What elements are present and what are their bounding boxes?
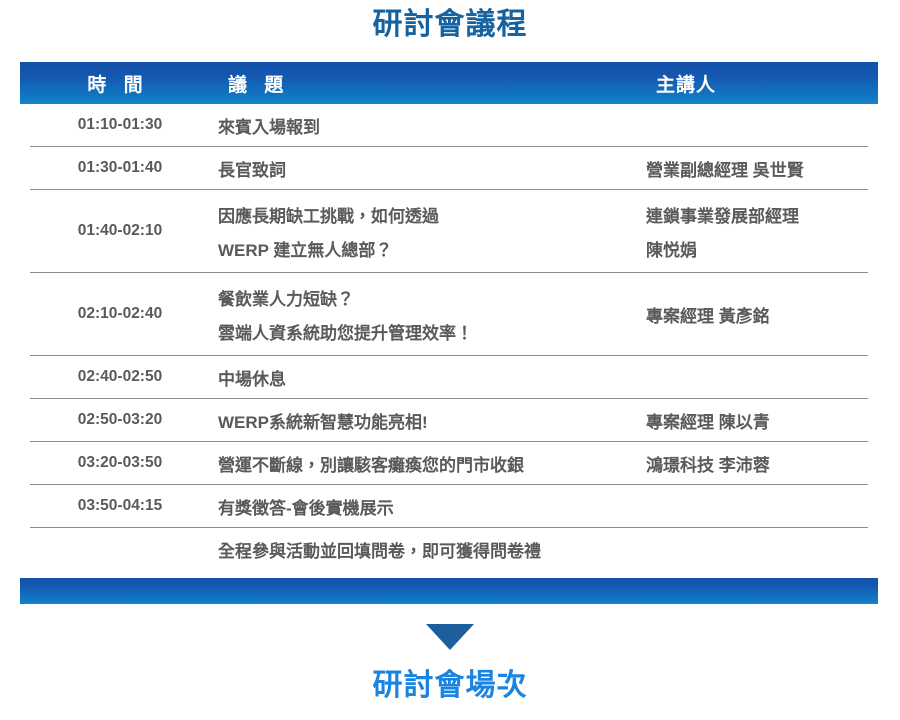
- cell-topic-line1: 營運不斷線，別讓駭客癱瘓您的門市收銀: [218, 451, 638, 476]
- cell-time: 03:50-04:15: [30, 497, 210, 515]
- table-row: 02:40-02:50中場休息: [30, 356, 868, 399]
- agenda-table: 時 間 議 題 主講人 01:10-01:30來賓入場報到01:30-01:40…: [20, 62, 878, 571]
- cell-speaker: 專案經理 黃彥銘: [638, 302, 868, 327]
- cell-speaker: 營業副總經理 吳世賢: [638, 156, 868, 181]
- table-header-row: 時 間 議 題 主講人: [20, 62, 878, 104]
- cell-topic: 全程參與活動並回填問卷，即可獲得問卷禮: [210, 537, 638, 562]
- arrow-container: [0, 624, 900, 650]
- cell-speaker: 連鎖事業發展部經理陳悦娟: [638, 202, 868, 261]
- table-row: 01:40-02:10因應長期缺工挑戰，如何透過WERP 建立無人總部？連鎖事業…: [30, 190, 868, 273]
- cell-topic: 因應長期缺工挑戰，如何透過WERP 建立無人總部？: [210, 202, 638, 261]
- cell-speaker-line2: 陳悦娟: [646, 236, 868, 261]
- cell-topic-line1: 全程參與活動並回填問卷，即可獲得問卷禮: [218, 537, 638, 562]
- cell-speaker-line1: 鴻璟科技 李沛蓉: [646, 451, 868, 476]
- cell-topic-line1: 餐飲業人力短缺？: [218, 285, 638, 310]
- table-row: 全程參與活動並回填問卷，即可獲得問卷禮: [30, 528, 868, 571]
- cell-speaker-line1: 連鎖事業發展部經理: [646, 202, 868, 227]
- cell-speaker-line1: 專案經理 陳以青: [646, 408, 868, 433]
- column-header-topic: 議 題: [210, 70, 638, 97]
- cell-speaker-line1: 營業副總經理 吳世賢: [646, 156, 868, 181]
- cell-topic-line1: WERP系統新智慧功能亮相!: [218, 408, 638, 433]
- table-body: 01:10-01:30來賓入場報到01:30-01:40長官致詞營業副總經理 吳…: [20, 104, 878, 571]
- cell-time: 01:30-01:40: [30, 159, 210, 177]
- cell-speaker: 專案經理 陳以青: [638, 408, 868, 433]
- table-row: 02:10-02:40餐飲業人力短缺？雲端人資系統助您提升管理效率！專案經理 黃…: [30, 273, 868, 356]
- cell-topic-line1: 有獎徵答-會後實機展示: [218, 494, 638, 519]
- cell-time: 02:10-02:40: [30, 305, 210, 323]
- column-header-time: 時 間: [20, 70, 210, 97]
- cell-topic: 營運不斷線，別讓駭客癱瘓您的門市收銀: [210, 451, 638, 476]
- cell-topic-line2: WERP 建立無人總部？: [218, 236, 638, 261]
- cell-topic: 有獎徵答-會後實機展示: [210, 494, 638, 519]
- table-row: 02:50-03:20WERP系統新智慧功能亮相!專案經理 陳以青: [30, 399, 868, 442]
- table-row: 03:20-03:50營運不斷線，別讓駭客癱瘓您的門市收銀鴻璟科技 李沛蓉: [30, 442, 868, 485]
- cell-topic-line1: 來賓入場報到: [218, 113, 638, 138]
- cell-topic: 餐飲業人力短缺？雲端人資系統助您提升管理效率！: [210, 285, 638, 344]
- cell-speaker: 鴻璟科技 李沛蓉: [638, 451, 868, 476]
- cell-topic-line1: 中場休息: [218, 365, 638, 390]
- page-title: 研討會議程: [0, 0, 900, 48]
- cell-topic: 長官致詞: [210, 156, 638, 181]
- cell-time: 03:20-03:50: [30, 454, 210, 472]
- cell-topic: 中場休息: [210, 365, 638, 390]
- cell-topic: WERP系統新智慧功能亮相!: [210, 408, 638, 433]
- table-row: 01:10-01:30來賓入場報到: [30, 104, 868, 147]
- cell-speaker-line1: 專案經理 黃彥銘: [646, 302, 868, 327]
- table-row: 03:50-04:15有獎徵答-會後實機展示: [30, 485, 868, 528]
- session-title: 研討會場次: [0, 668, 900, 704]
- table-row: 01:30-01:40長官致詞營業副總經理 吳世賢: [30, 147, 868, 190]
- triangle-down-icon: [426, 624, 474, 650]
- cell-time: 02:50-03:20: [30, 411, 210, 429]
- cell-time: 02:40-02:50: [30, 368, 210, 386]
- cell-topic-line1: 長官致詞: [218, 156, 638, 181]
- cell-topic-line2: 雲端人資系統助您提升管理效率！: [218, 319, 638, 344]
- bottom-divider-bar: [20, 578, 878, 604]
- agenda-page: 研討會議程 時 間 議 題 主講人 01:10-01:30來賓入場報到01:30…: [0, 0, 900, 720]
- cell-topic: 來賓入場報到: [210, 113, 638, 138]
- cell-time: 01:10-01:30: [30, 116, 210, 134]
- column-header-speaker: 主講人: [638, 70, 878, 97]
- cell-topic-line1: 因應長期缺工挑戰，如何透過: [218, 202, 638, 227]
- cell-time: 01:40-02:10: [30, 222, 210, 240]
